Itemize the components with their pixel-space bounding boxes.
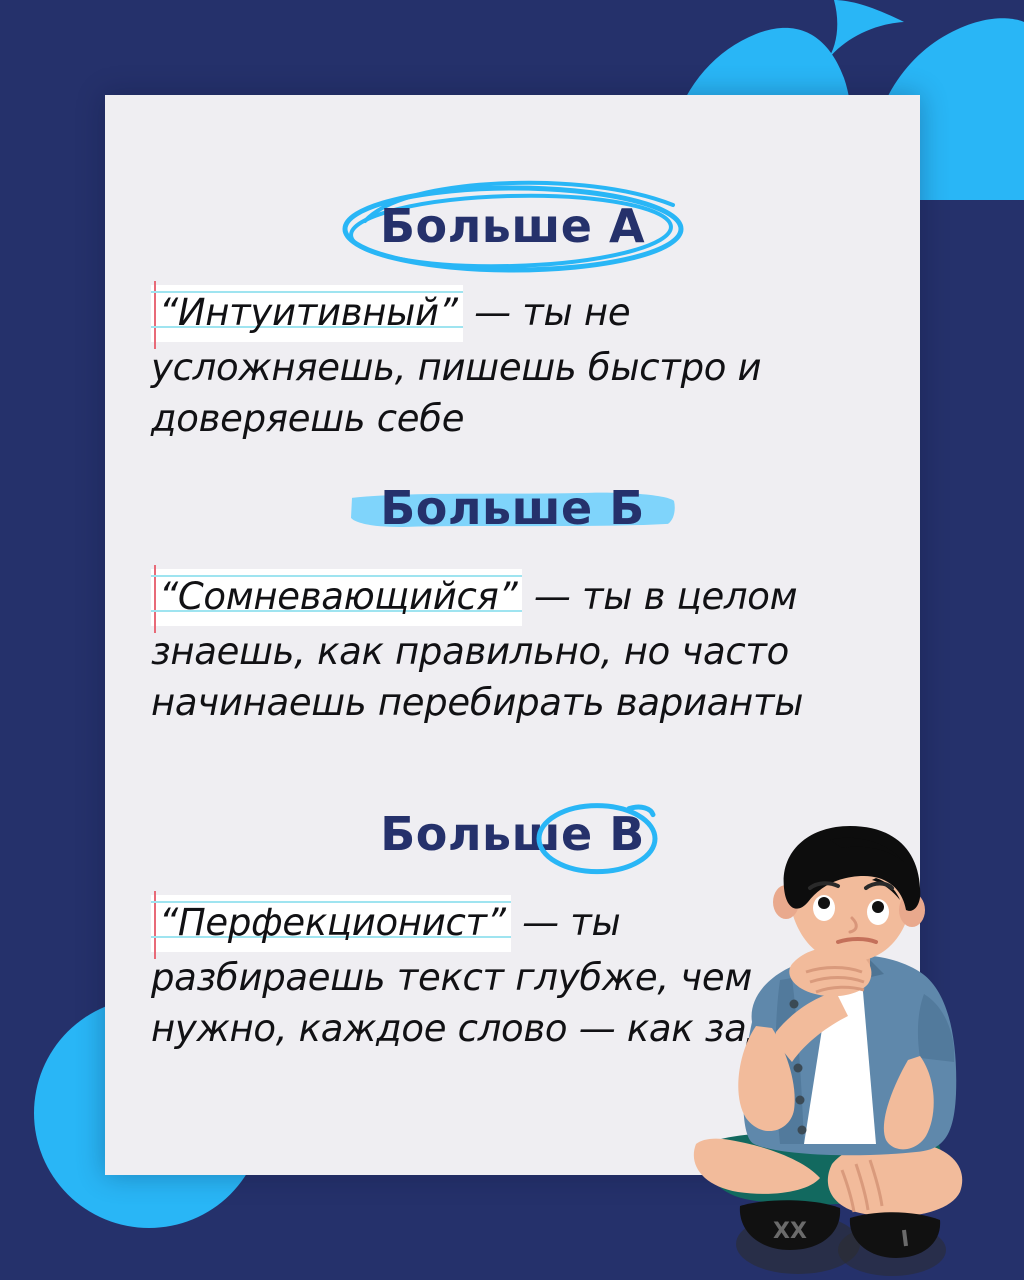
notebook-highlight-term-a: “Интуитивный” <box>151 285 463 342</box>
section-b-title-text: Больше Б <box>374 481 651 535</box>
circle-scribble-letter-icon <box>533 795 665 877</box>
shoe-text: XX <box>773 1219 807 1244</box>
section-a-quoted-term: “Интуитивный” <box>159 291 458 334</box>
thinking-person-illustration: XX <box>680 826 980 1280</box>
notebook-highlight-term-b: “Сомневающийся” <box>151 569 522 626</box>
section-b-heading: Больше Б <box>105 481 920 535</box>
notebook-highlight-term-c: “Перфекционист” <box>151 895 511 952</box>
section-c-title-text: Больше В <box>374 807 651 861</box>
section-a-body: “Интуитивный” — ты не усложняешь, пишешь… <box>105 285 920 444</box>
poster-canvas: Больше А “Интуитивный” — ты не усложняеш… <box>0 0 1024 1280</box>
section-a-title-text: Больше А <box>374 199 651 253</box>
section-c-quoted-term: “Перфекционист” <box>159 901 506 944</box>
section-a-heading: Больше А <box>105 199 920 253</box>
section-b-quoted-term: “Сомневающийся” <box>159 575 517 618</box>
section-b-body: “Сомневающийся” — ты в целом знаешь, как… <box>105 569 920 728</box>
